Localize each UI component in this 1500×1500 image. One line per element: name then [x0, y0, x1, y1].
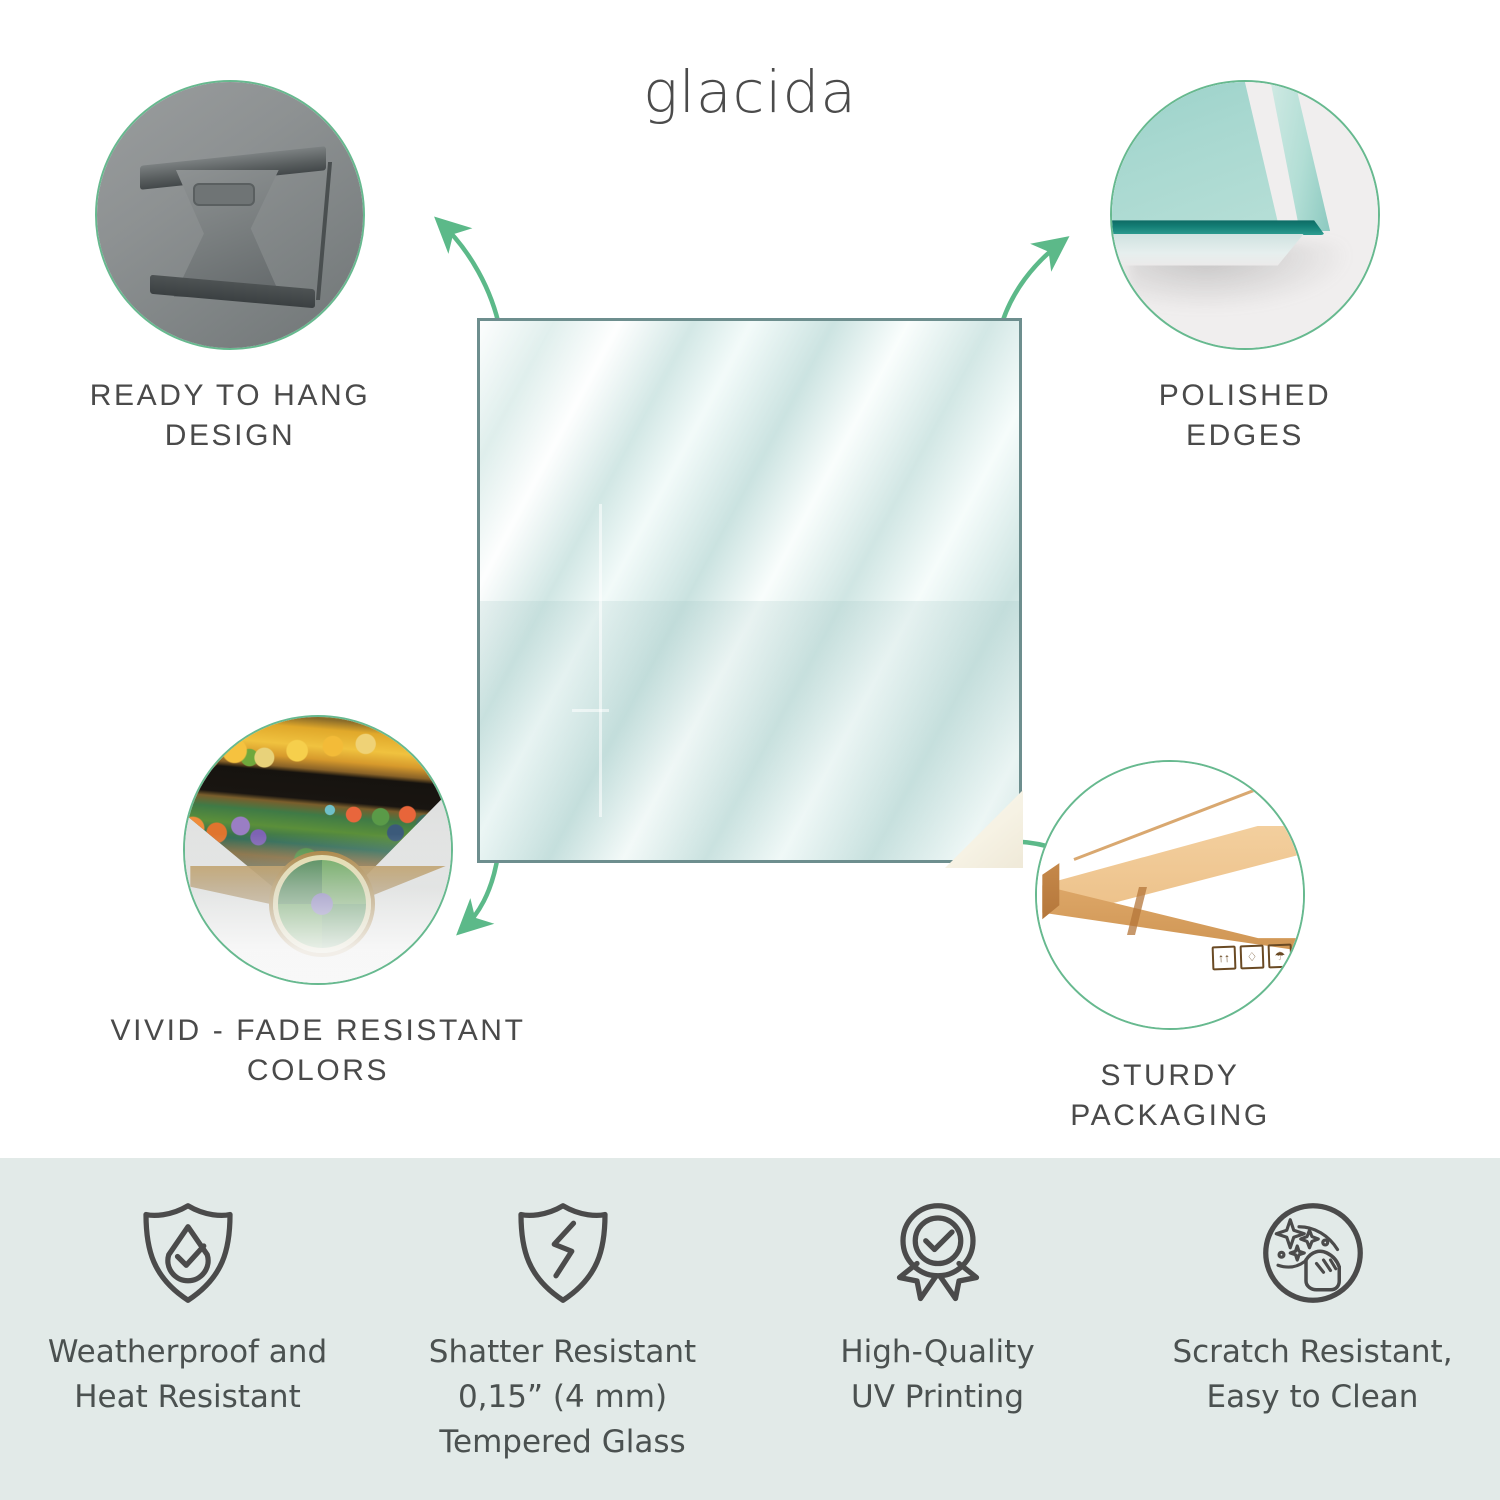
- feature-image-wrap: [1110, 80, 1380, 350]
- feature-image-wrap: ↑↑ ♢ ☂: [1035, 760, 1305, 1030]
- cardboard-box-illustration: ↑↑ ♢ ☂: [1035, 760, 1305, 1030]
- hanging-bracket-photo: [95, 80, 365, 350]
- feature-label-sturdy-packaging: STURDYPACKAGING: [860, 1056, 1480, 1136]
- feature-polished-edges: POLISHEDEDGES: [1035, 80, 1455, 456]
- peeled-corner: [945, 790, 1023, 868]
- benefit-shatter-resistant: Shatter Resistant0,15” (4 mm)Tempered Gl…: [375, 1158, 750, 1500]
- arrow-to-ready-to-hang: [440, 222, 500, 330]
- shield-lightning-bolt-icon: [507, 1198, 619, 1308]
- award-ribbon-check-icon: [882, 1198, 994, 1308]
- benefit-text-shatter-resistant: Shatter Resistant0,15” (4 mm)Tempered Gl…: [429, 1330, 696, 1465]
- benefit-scratch-resistant: Scratch Resistant,Easy to Clean: [1125, 1158, 1500, 1500]
- benefit-uv-printing: High-QualityUV Printing: [750, 1158, 1125, 1500]
- sparkle-hand-wipe-icon: [1257, 1198, 1369, 1308]
- benefit-text-scratch-resistant: Scratch Resistant,Easy to Clean: [1172, 1330, 1452, 1420]
- feature-label-vivid-colors: VIVID - FADE RESISTANTCOLORS: [8, 1011, 628, 1091]
- tempered-glass-panel: [477, 318, 1022, 863]
- this-side-up-icon: ↑↑: [1212, 946, 1237, 971]
- shield-water-drop-check-icon: [132, 1198, 244, 1308]
- feature-label-ready-to-hang: READY TO HANGDESIGN: [20, 376, 440, 456]
- keep-dry-icon: ☂: [1268, 944, 1293, 969]
- benefits-band: Weatherproof andHeat Resistant Shatter R…: [0, 1158, 1500, 1500]
- fragile-glass-icon: ♢: [1240, 945, 1265, 970]
- feature-image-wrap: [95, 80, 365, 350]
- feature-label-polished-edges: POLISHEDEDGES: [1035, 376, 1455, 456]
- benefit-text-weatherproof: Weatherproof andHeat Resistant: [48, 1330, 327, 1420]
- feature-image-wrap: [183, 715, 453, 985]
- benefit-weatherproof: Weatherproof andHeat Resistant: [0, 1158, 375, 1500]
- polished-glass-edge-photo: [1110, 80, 1380, 350]
- benefit-text-uv-printing: High-QualityUV Printing: [840, 1330, 1034, 1420]
- stained-glass-artwork-photo: [183, 715, 453, 985]
- feature-ready-to-hang: READY TO HANGDESIGN: [20, 80, 440, 456]
- shipping-symbol-stamps: ↑↑ ♢ ☂: [1212, 944, 1293, 971]
